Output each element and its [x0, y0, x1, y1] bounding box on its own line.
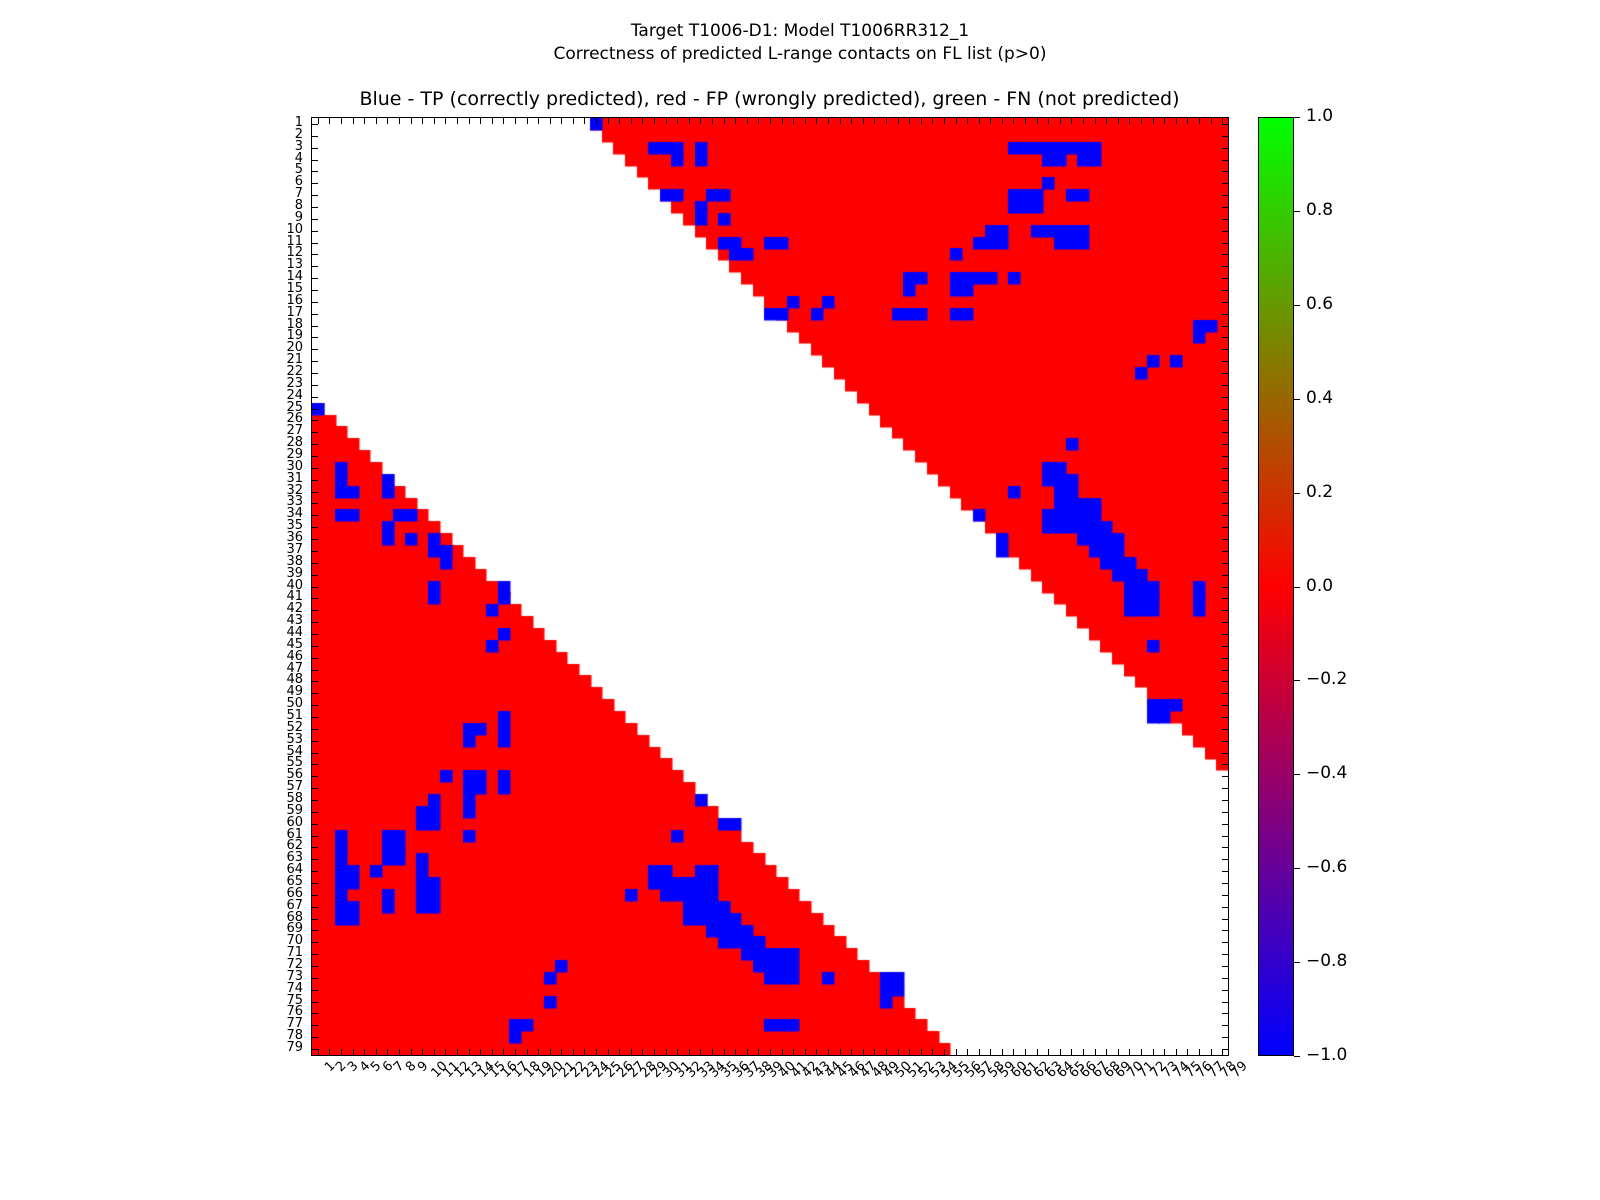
colorbar-tick-2 — [1294, 305, 1300, 306]
colorbar-tick-label-3: 0.4 — [1306, 390, 1333, 407]
colorbar-tick-3 — [1294, 399, 1300, 400]
colorbar-tick-label-5: 0.0 — [1306, 578, 1333, 595]
contact-map-canvas — [312, 118, 1228, 1055]
colorbar-tick-label-6: −0.2 — [1306, 671, 1347, 688]
colorbar-tick-10 — [1294, 1056, 1300, 1057]
colorbar-tick-7 — [1294, 774, 1300, 775]
colorbar-tick-9 — [1294, 962, 1300, 963]
colorbar-gradient — [1258, 117, 1294, 1056]
colorbar-tick-1 — [1294, 211, 1300, 212]
colorbar-tick-6 — [1294, 680, 1300, 681]
colorbar-tick-label-4: 0.2 — [1306, 484, 1333, 501]
colorbar-tick-8 — [1294, 868, 1300, 869]
colorbar: 1.00.80.60.40.20.0−0.2−0.4−0.6−0.8−1.0 — [1258, 117, 1294, 1056]
colorbar-tick-0 — [1294, 117, 1300, 118]
figure-title: Target T1006-D1: Model T1006RR312_1 Corr… — [0, 20, 1600, 66]
colorbar-tick-5 — [1294, 587, 1300, 588]
axes-legend-title: Blue - TP (correctly predicted), red - F… — [311, 88, 1228, 110]
colorbar-tick-label-1: 0.8 — [1306, 202, 1333, 219]
colorbar-tick-4 — [1294, 493, 1300, 494]
figure-title-line-1: Target T1006-D1: Model T1006RR312_1 — [0, 20, 1600, 43]
colorbar-tick-label-9: −0.8 — [1306, 953, 1347, 970]
x-tick-label-9: 9 — [416, 1060, 430, 1074]
contact-map-plot — [311, 117, 1229, 1056]
colorbar-tick-label-2: 0.6 — [1306, 296, 1333, 313]
figure-title-line-2: Correctness of predicted L-range contact… — [0, 43, 1600, 66]
y-tick-label-79: 79 — [251, 1042, 303, 1054]
colorbar-tick-label-0: 1.0 — [1306, 108, 1333, 125]
colorbar-tick-label-7: −0.4 — [1306, 765, 1347, 782]
colorbar-tick-label-10: −1.0 — [1306, 1047, 1347, 1064]
colorbar-tick-label-8: −0.6 — [1306, 859, 1347, 876]
